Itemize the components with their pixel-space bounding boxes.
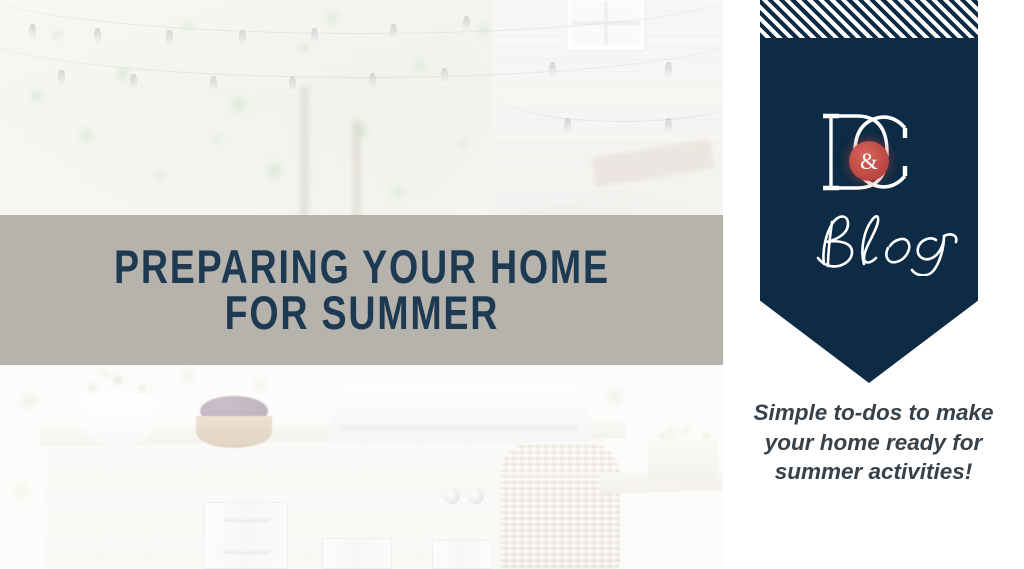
light-bulb: [441, 70, 448, 85]
string-light-row: [0, 30, 723, 90]
light-wire: [492, 92, 723, 122]
grill-knob: [444, 488, 460, 504]
diagonal-stripe-band: [760, 0, 978, 38]
caption-line-2: your home ready for: [737, 428, 1010, 458]
caption-block: Simple to-dos to make your home ready fo…: [737, 398, 1010, 487]
light-bulb: [665, 64, 672, 79]
dc-monogram: &: [760, 104, 978, 200]
feature-graphic-canvas: PREPARING YOUR HOME FOR SUMMER: [0, 0, 1024, 569]
grill-knob: [468, 488, 484, 504]
planter-pot: [82, 394, 156, 446]
planter-box: [648, 440, 718, 480]
grill-handle: [340, 422, 578, 431]
wicker-chair: [500, 442, 620, 569]
light-bulb: [369, 75, 376, 90]
light-bulb: [549, 64, 556, 79]
cabinet-drawer: [204, 502, 288, 569]
wooden-bowl: [196, 416, 272, 448]
drawer-handle: [223, 517, 271, 522]
string-light-row: [0, 92, 723, 152]
blog-script-wordmark: [760, 206, 978, 276]
light-bulb: [130, 76, 137, 91]
caption-line-1: Simple to-dos to make: [737, 398, 1010, 428]
light-bulb: [665, 120, 672, 135]
light-bulb: [564, 120, 571, 135]
cabinet-door: [432, 540, 492, 569]
light-bulb: [289, 78, 296, 93]
blog-pennant-banner: &: [760, 0, 978, 383]
ampersand-badge: &: [849, 141, 889, 181]
wicker-weave: [500, 442, 620, 569]
page-title: PREPARING YOUR HOME FOR SUMMER: [114, 244, 610, 336]
stainless-grill-hood: [330, 386, 590, 444]
light-wire: [0, 30, 723, 78]
blog-script-icon: [760, 206, 978, 276]
light-wire: [0, 0, 723, 34]
light-bulb: [210, 78, 217, 93]
caption-line-3: summer activities!: [737, 457, 1010, 487]
photo-backyard-string-lights: [0, 0, 723, 218]
drawer-handle: [223, 549, 271, 554]
light-bulb: [58, 72, 65, 87]
cabinet-door: [322, 538, 392, 569]
ampersand-glyph: &: [860, 150, 878, 173]
photo-outdoor-kitchen: [0, 364, 723, 569]
right-panel: &: [723, 0, 1024, 569]
title-band: PREPARING YOUR HOME FOR SUMMER: [0, 215, 723, 365]
photo-column: PREPARING YOUR HOME FOR SUMMER: [0, 0, 723, 569]
